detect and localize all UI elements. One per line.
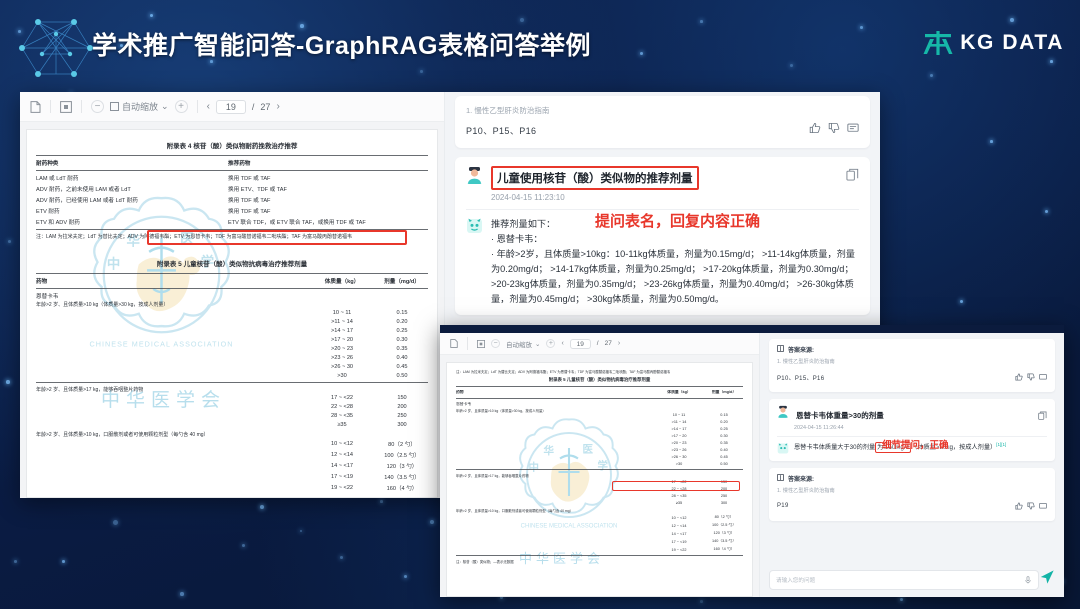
table-row: 17 ~ <19140（3.5 勺） [36, 473, 428, 481]
cell-dose: 80（2 勺） [705, 515, 743, 520]
mic-icon[interactable] [1024, 571, 1032, 589]
rule-3 [36, 229, 428, 230]
table-row: 12 ~ <14100（2.5 勺） [36, 451, 428, 459]
table5-group1-note: 年龄>2 岁、且体质量>10 kg（体质量>30 kg，按成人剂量） [36, 301, 428, 308]
table-row: >20 ~ 230.35 [456, 441, 743, 445]
table-row: >23 ~ 260.40 [36, 355, 428, 361]
cell-weight: >11 ~ 14 [314, 319, 370, 325]
document-icon[interactable] [30, 101, 41, 113]
cell-dose: 0.50 [705, 462, 743, 466]
thumbs-down-icon[interactable] [828, 121, 840, 139]
background-star [113, 520, 118, 525]
qa-card: 儿童使用核苷（酸）类似物的推荐剂量 2024-04-15 11:23:10 [455, 157, 870, 315]
inset-group1-label: 恩替卡韦 [456, 402, 743, 407]
table-row: 22 ~ <28200 [36, 404, 428, 410]
cell-dose: 0.20 [376, 319, 428, 325]
table-row: >17 ~ 200.30 [456, 434, 743, 438]
rule [36, 155, 428, 156]
table-row: 10 ~ 110.15 [36, 310, 428, 316]
cell-dose: 150 [376, 395, 428, 401]
background-star [340, 556, 343, 559]
table5-header-row: 药物 体质量（kg） 剂量（mg/d） [36, 277, 428, 285]
background-star [62, 560, 65, 563]
table-row: >300.50 [36, 373, 428, 379]
cell-weight: 17 ~ <19 [659, 540, 699, 544]
cell-dose: 200 [376, 404, 428, 410]
cell-dose: 0.25 [376, 328, 428, 334]
table4-header-0: 耐药种类 [36, 159, 222, 167]
toolbar-divider [50, 100, 51, 113]
cell-dose: 0.45 [705, 455, 743, 459]
table-row: 12 ~ <14100（2.5 勺） [456, 523, 743, 528]
table-row: ETV 耐药 换用 TDF 或 TAF [36, 207, 428, 215]
document-icon[interactable] [450, 339, 458, 348]
pdf-page-19: 中华 医学 CHINESE MEDICAL ASSOCIATION 中华医学会 … [26, 129, 438, 498]
question-text: 儿童使用核苷（酸）类似物的推荐剂量 [491, 166, 699, 190]
chevron-down-icon: ⌄ [535, 340, 540, 348]
cell-weight: 17 ~ <19 [314, 474, 370, 480]
user-avatar [466, 166, 483, 184]
source-pages: P19 [777, 503, 789, 509]
table-row: 10 ~ 110.15 [456, 413, 743, 417]
inset-answer-source-card-top: 答案来源: 1. 慢性乙型肝炎防治指南 P10、P15、P16 [769, 339, 1055, 392]
document-viewer-pane: − 自动缩放 ⌄ + ‹ 19 / 27 › [20, 92, 445, 498]
table-row: 10 ~ <1280（2 勺） [456, 515, 743, 520]
background-star [6, 380, 10, 384]
t4-r4-c0: ETV 和 ADV 耐药 [36, 218, 222, 226]
answer-line-1: · 恩替卡韦： [491, 232, 859, 247]
send-arrow-icon[interactable] [1039, 569, 1055, 590]
inset-footer-note: 注：核苷（酸）类似物；—表示无数据 [456, 559, 743, 564]
page-title: 学术推广智能问答-GraphRAG表格问答举例 [92, 26, 591, 62]
table-row: >14 ~ 170.25 [36, 328, 428, 334]
bot-avatar [466, 217, 483, 235]
cell-weight: >17 ~ 20 [659, 434, 699, 438]
table-row: 10 ~ <1280（2 勺） [36, 440, 428, 448]
table5-header-2: 剂量（mg/d） [376, 277, 428, 285]
cell-dose: 0.35 [705, 441, 743, 445]
cell-weight: >20 ~ 23 [314, 346, 370, 352]
table4-note: 注：LAM 为拉米夫定；LdT 为替比夫定；ADV 为阿德福韦酯；ETV 为恩替… [36, 233, 428, 240]
table-row: 22 ~ <28200 [456, 487, 743, 491]
source-pages: P10、P15、P16 [777, 373, 824, 382]
background-star [900, 598, 903, 601]
answer-line-2: · 年龄>2岁，且体质量>10kg：10-11kg体质量，剂量为0.15mg/d… [491, 247, 859, 307]
cell-weight: >11 ~ 14 [659, 420, 699, 424]
cell-weight: 10 ~ 11 [314, 310, 370, 316]
cell-weight: 10 ~ <12 [659, 516, 699, 520]
cell-weight: 14 ~ <17 [314, 463, 370, 469]
inset-question-header: 恩替卡韦体重量>30的剂量 2024-04-15 11:26:44 [777, 405, 1047, 431]
annotation-main: 提问表名，回复内容正确 [595, 210, 760, 231]
table-row: 28 ~ <35250 [456, 494, 743, 498]
source-document-name: 1. 慢性乙型肝炎防治指南 [466, 105, 859, 116]
cell-weight: 10 ~ <12 [314, 441, 370, 447]
cell-weight: ≥35 [314, 422, 370, 428]
table4-header-row: 耐药种类 推荐药物 [36, 159, 428, 167]
thumbs-down-icon[interactable] [1027, 497, 1035, 515]
background-star [8, 240, 11, 243]
user-avatar [777, 405, 789, 418]
rule-4 [36, 273, 428, 274]
inset-chat-pane: 答案来源: 1. 慢性乙型肝炎防治指南 P10、P15、P16 [760, 333, 1064, 597]
cell-dose: 0.35 [376, 346, 428, 352]
source-pages: P10、P15、P16 [466, 124, 536, 137]
question-timestamp: 2024-04-15 11:26:44 [794, 425, 886, 431]
table-row: ADV 耐药，已经使用 LAM 或者 LdT 耐药 换用 TDF 或 TAF [36, 196, 428, 204]
prev-page-button[interactable]: ‹ [561, 340, 563, 347]
cell-dose: 0.40 [376, 355, 428, 361]
kgdata-mark-icon [923, 30, 953, 56]
background-star [260, 505, 264, 509]
inset-document-scroll-area[interactable]: 中华 医学 CHINESE MEDICAL ASSOCIATION 中华医学会 … [440, 355, 759, 597]
cell-weight: >26 ~ 30 [659, 455, 699, 459]
table-row: >26 ~ 300.45 [36, 364, 428, 370]
zoom-out-button[interactable]: − [491, 339, 500, 348]
source-card-header: 答案来源: [777, 345, 1047, 354]
table-row: ≥35300 [456, 501, 743, 505]
inset-pdf-page-19: 中华 医学 CHINESE MEDICAL ASSOCIATION 中华医学会 … [446, 362, 753, 597]
feedback-actions [1015, 368, 1047, 386]
t4-r3-c1: 换用 TDF 或 TAF [228, 207, 428, 215]
cell-dose: 200 [705, 487, 743, 491]
copy-icon[interactable] [1038, 407, 1047, 425]
page-number-input[interactable]: 19 [216, 100, 246, 114]
zoom-in-button[interactable]: + [175, 100, 188, 113]
cell-dose: 300 [705, 501, 743, 505]
cell-dose: 120（3 勺） [705, 531, 743, 536]
thumbs-down-icon[interactable] [1027, 368, 1035, 386]
background-star [300, 530, 302, 532]
source-card-footer: P10、P15、P16 [466, 121, 859, 139]
cell-weight: 10 ~ 11 [659, 413, 699, 417]
table-row: >23 ~ 260.40 [456, 448, 743, 452]
t4-r0-c1: 换用 TDF 或 TAF [228, 174, 428, 182]
table-row: 14 ~ <17120（3 勺） [456, 531, 743, 536]
table-row: 17 ~ <19140（3.5 勺） [456, 539, 743, 544]
comment-icon[interactable] [1039, 497, 1047, 515]
total-pages-label: 27 [605, 340, 612, 347]
background-star [180, 592, 184, 596]
table-row: ≥35300 [36, 422, 428, 428]
zoom-out-button[interactable]: − [91, 100, 104, 113]
rule-2 [456, 398, 743, 399]
cell-dose: 300 [376, 422, 428, 428]
table-row: 19 ~ <22160（4 勺） [456, 547, 743, 552]
slide-header: 学术推广智能问答-GraphRAG表格问答举例 KG DATA [0, 0, 1080, 90]
cell-weight: 14 ~ <17 [659, 532, 699, 536]
cell-weight: >23 ~ 26 [314, 355, 370, 361]
rule-4 [456, 555, 743, 556]
cell-weight: 19 ~ <22 [659, 548, 699, 552]
background-star [990, 140, 993, 143]
source-card-footer: P10、P15、P16 [777, 368, 1047, 386]
cell-dose: 0.50 [376, 373, 428, 379]
table-row: 17 ~ <22150 [36, 395, 428, 401]
chat-input-placeholder: 请输入您的问题 [776, 576, 815, 584]
inset-top-note: 注：LAM 为拉米夫定；LdT 为替比夫定；ADV 为阿德福韦酯；ETV 为恩替… [456, 369, 743, 374]
table5-group1-label: 恩替卡韦 [36, 292, 428, 300]
feedback-actions [809, 121, 859, 139]
chevron-down-icon: ⌄ [161, 101, 169, 112]
inset-header-0: 药物 [456, 390, 653, 395]
cell-dose: 160（4 勺） [376, 484, 428, 492]
source-document-name: 1. 慢性乙型肝炎防治指南 [777, 487, 1047, 494]
page-separator: / [597, 340, 599, 347]
page-number-input[interactable]: 19 [570, 339, 591, 349]
table-row: ETV 和 ADV 耐药 ETV 联合 TDF，或 ETV 联合 TAF，或换用… [36, 218, 428, 226]
cell-dose: 160（4 勺） [705, 547, 743, 552]
toolbar-divider-3 [197, 100, 198, 113]
next-page-button[interactable]: › [618, 340, 620, 347]
cell-weight: >26 ~ 30 [314, 364, 370, 370]
background-star [430, 520, 434, 524]
table-row: 14 ~ <17120（3 勺） [36, 462, 428, 470]
thumbs-up-icon[interactable] [1015, 368, 1023, 386]
inset-app-window: − 自动缩放 ⌄ + ‹ 19 / 27 › [440, 325, 1064, 597]
inset-group2-rows: 17 ~ <2215022 ~ <2820028 ~ <35250≥35300 [456, 480, 743, 505]
table-row: ADV 耐药，之前未使用 LAM 或者 LdT 换用 ETV、TDF 或 TAF [36, 185, 428, 193]
background-star [1045, 210, 1048, 213]
inset-answer-source-card-bottom: 答案来源: 1. 慢性乙型肝炎防治指南 P19 [769, 468, 1055, 521]
total-pages-label: 27 [260, 102, 270, 112]
inset-header-1: 体质量（kg） [659, 390, 699, 395]
table-row: >17 ~ 200.30 [36, 337, 428, 343]
inset-document-viewer-pane: − 自动缩放 ⌄ + ‹ 19 / 27 › [440, 333, 760, 597]
cell-weight: >17 ~ 20 [314, 337, 370, 343]
zoom-level-label: 自动缩放 [506, 339, 532, 349]
table5-header-1: 体质量（kg） [314, 277, 370, 285]
citation-marker[interactable]: [1][1] [996, 442, 1006, 447]
source-document-name: 1. 慢性乙型肝炎防治指南 [777, 358, 1047, 365]
comment-icon[interactable] [847, 121, 859, 139]
table4-title: 附录表 4 核苷（酸）类似物耐药挽救治疗推荐 [36, 140, 428, 150]
cell-dose: 150 [705, 480, 743, 484]
page-separator: / [252, 102, 255, 112]
thumbs-up-icon[interactable] [809, 121, 821, 139]
bot-avatar [777, 442, 789, 455]
cell-dose: 0.45 [376, 364, 428, 370]
feedback-actions [1015, 497, 1047, 515]
inset-header-row: 药物 体质量（kg） 剂量（mg/d） [456, 390, 743, 395]
cell-weight: 28 ~ <35 [314, 413, 370, 419]
t4-r2-c0: ADV 耐药，已经使用 LAM 或者 LdT 耐药 [36, 196, 222, 204]
cell-weight: 28 ~ <35 [659, 494, 699, 498]
cell-dose: 250 [376, 413, 428, 419]
table5-group2-rows: 17 ~ <2215022 ~ <2820028 ~ <35250≥35300 [36, 395, 428, 428]
inset-group2-note: 年龄>2 岁、且体质量>17 kg，能够吞咽整片药物 [456, 473, 743, 478]
next-page-button[interactable]: › [276, 101, 279, 112]
cell-weight: ≥35 [659, 501, 699, 505]
cell-weight: 19 ~ <22 [314, 485, 370, 491]
t4-r4-c1: ETV 联合 TDF，或 ETV 联合 TAF，或换用 TDF 或 TAF [228, 218, 428, 226]
question-text: 恩替卡韦体重量>30的剂量 [794, 409, 886, 422]
t4-r1-c0: ADV 耐药，之前未使用 LAM 或者 LdT [36, 185, 222, 193]
cell-dose: 0.30 [376, 337, 428, 343]
chat-composer: 请输入您的问题 [760, 564, 1064, 597]
cell-dose: 0.30 [705, 434, 743, 438]
cell-weight: 17 ~ <22 [314, 395, 370, 401]
background-star [242, 544, 245, 547]
background-star [14, 560, 17, 563]
background-star [404, 575, 407, 578]
cell-dose: 80（2 勺） [376, 440, 428, 448]
cell-dose: 100（2.5 勺） [376, 451, 428, 459]
background-star [380, 500, 383, 503]
table5-title: 附录表 5 儿童核苷（酸）类似物抗病毒治疗推荐剂量 [36, 258, 428, 268]
table-row: LAM 或 LdT 耐药 换用 TDF 或 TAF [36, 174, 428, 182]
cell-dose: 0.20 [705, 420, 743, 424]
cell-dose: 0.40 [705, 448, 743, 452]
table-row: >300.50 [456, 462, 743, 466]
annotation-inset: 细节提问，正确 [882, 437, 949, 451]
prev-page-button[interactable]: ‹ [207, 101, 210, 112]
pdf-toolbar: − 自动缩放 ⌄ + ‹ 19 / 27 › [20, 92, 444, 122]
cell-weight: >30 [659, 462, 699, 466]
rule-5 [36, 288, 428, 289]
inset-header-2: 剂量（mg/d） [705, 390, 743, 395]
thumbs-up-icon[interactable] [1015, 497, 1023, 515]
table-row: >20 ~ 230.35 [36, 346, 428, 352]
toolbar-divider [467, 337, 468, 350]
table4-header-1: 推荐药物 [228, 159, 428, 167]
cell-weight: 22 ~ <28 [659, 487, 699, 491]
document-content: 附录表 4 核苷（酸）类似物耐药挽救治疗推荐 耐药种类 推荐药物 LAM 或 L… [27, 130, 437, 497]
brand-name: KG DATA [960, 31, 1064, 55]
cell-dose: 250 [705, 494, 743, 498]
cell-weight: 12 ~ <14 [314, 452, 370, 458]
inset-pdf-toolbar: − 自动缩放 ⌄ + ‹ 19 / 27 › [440, 333, 759, 355]
table5-group2-note: 年龄>2 岁、且体质量>17 kg，能够吞咽整片药物 [36, 386, 428, 393]
background-star [960, 300, 963, 303]
book-icon [777, 345, 784, 354]
zoom-level-select[interactable]: 自动缩放 ⌄ [110, 100, 169, 113]
cell-weight: >20 ~ 23 [659, 441, 699, 445]
table-row: 28 ~ <35250 [36, 413, 428, 419]
rule-3 [456, 469, 743, 470]
cell-dose: 0.15 [376, 310, 428, 316]
source-card-header-label: 答案来源: [788, 474, 814, 483]
cell-dose: 140（3.5 勺） [376, 473, 428, 481]
table-row: >11 ~ 140.20 [36, 319, 428, 325]
question-header: 儿童使用核苷（酸）类似物的推荐剂量 2024-04-15 11:23:10 [466, 166, 859, 202]
cell-weight: >14 ~ 17 [314, 328, 370, 334]
zoom-level-select[interactable]: 自动缩放 ⌄ [506, 339, 540, 349]
cell-weight: 17 ~ <22 [659, 480, 699, 484]
table5-header-0: 药物 [36, 277, 308, 285]
inset-document-content: 注：LAM 为拉米夫定；LdT 为替比夫定；ADV 为阿德福韦酯；ETV 为恩替… [447, 363, 752, 596]
table-row: >14 ~ 170.25 [456, 427, 743, 431]
zoom-in-button[interactable]: + [546, 339, 555, 348]
background-star [700, 600, 703, 603]
cell-weight: >14 ~ 17 [659, 427, 699, 431]
table5-group1-rows: 10 ~ 110.15>11 ~ 140.20>14 ~ 170.25>17 ~… [36, 310, 428, 379]
inset-group1-rows: 10 ~ 110.15>11 ~ 140.20>14 ~ 170.25>17 ~… [456, 413, 743, 466]
inset-group3-rows: 10 ~ <1280（2 勺）12 ~ <14100（2.5 勺）14 ~ <1… [456, 515, 743, 552]
cell-weight: >30 [314, 373, 370, 379]
knowledge-graph-network-icon [12, 8, 104, 86]
cell-dose: 0.25 [705, 427, 743, 431]
source-card-header-label: 答案来源: [788, 345, 814, 354]
question-timestamp: 2024-04-15 11:23:10 [491, 193, 699, 202]
document-scroll-area[interactable]: 中华 医学 CHINESE MEDICAL ASSOCIATION 中华医学会 … [20, 122, 444, 498]
inset-qa-card: 恩替卡韦体重量>30的剂量 2024-04-15 11:26:44 [769, 399, 1055, 461]
table-row: >11 ~ 140.20 [456, 420, 743, 424]
sidebar-toggle-icon[interactable] [60, 101, 72, 113]
answer-source-card: 1. 慢性乙型肝炎防治指南 P10、P15、P16 [455, 96, 870, 148]
zoom-level-label: 自动缩放 [122, 100, 158, 113]
chat-input-box[interactable]: 请输入您的问题 [769, 570, 1039, 590]
cell-dose: 120（3 勺） [376, 462, 428, 470]
comment-icon[interactable] [1039, 368, 1047, 386]
table-row: 19 ~ <22160（4 勺） [36, 484, 428, 492]
cell-weight: 22 ~ <28 [314, 404, 370, 410]
table-row: 17 ~ <22150 [456, 480, 743, 484]
brand-logo: KG DATA [923, 30, 1064, 56]
copy-icon[interactable] [846, 168, 859, 186]
rule-6 [36, 382, 428, 383]
cell-dose: 0.15 [705, 413, 743, 417]
answer-prefix: 恩替卡韦体质量大于30的剂量 [794, 444, 875, 451]
sidebar-toggle-icon[interactable] [477, 340, 485, 348]
cell-weight: >23 ~ 26 [659, 448, 699, 452]
rule-2 [36, 170, 428, 171]
inset-table-title: 附录表 5 儿童核苷（酸）类似物抗病毒治疗推荐剂量 [456, 377, 743, 383]
source-card-header: 答案来源: [777, 474, 1047, 483]
toolbar-divider-2 [81, 100, 82, 113]
t4-r3-c0: ETV 耐药 [36, 207, 222, 215]
t4-r2-c1: 换用 TDF 或 TAF [228, 196, 428, 204]
t4-r0-c0: LAM 或 LdT 耐药 [36, 174, 222, 182]
source-card-footer: P19 [777, 497, 1047, 515]
cell-dose: 100（2.5 勺） [705, 523, 743, 528]
fit-page-icon [110, 102, 119, 111]
inset-group3-note: 年龄>2 岁、且体质量>10 kg，口服散剂或者可使用颗粒剂型（每勺含 40 m… [456, 508, 743, 513]
table-row: >26 ~ 300.45 [456, 455, 743, 459]
rule [456, 386, 743, 387]
cell-weight: 12 ~ <14 [659, 524, 699, 528]
t4-r1-c1: 换用 ETV、TDF 或 TAF [228, 185, 428, 193]
table5-group3-note: 年龄>2 岁、且体质量>10 kg，口服散剂或者可使用颗粒剂型（每勺含 40 m… [36, 431, 428, 438]
cell-dose: 140（3.5 勺） [705, 539, 743, 544]
book-icon [777, 474, 784, 483]
table5-group3-rows: 10 ~ <1280（2 勺）12 ~ <14100（2.5 勺）14 ~ <1… [36, 440, 428, 492]
